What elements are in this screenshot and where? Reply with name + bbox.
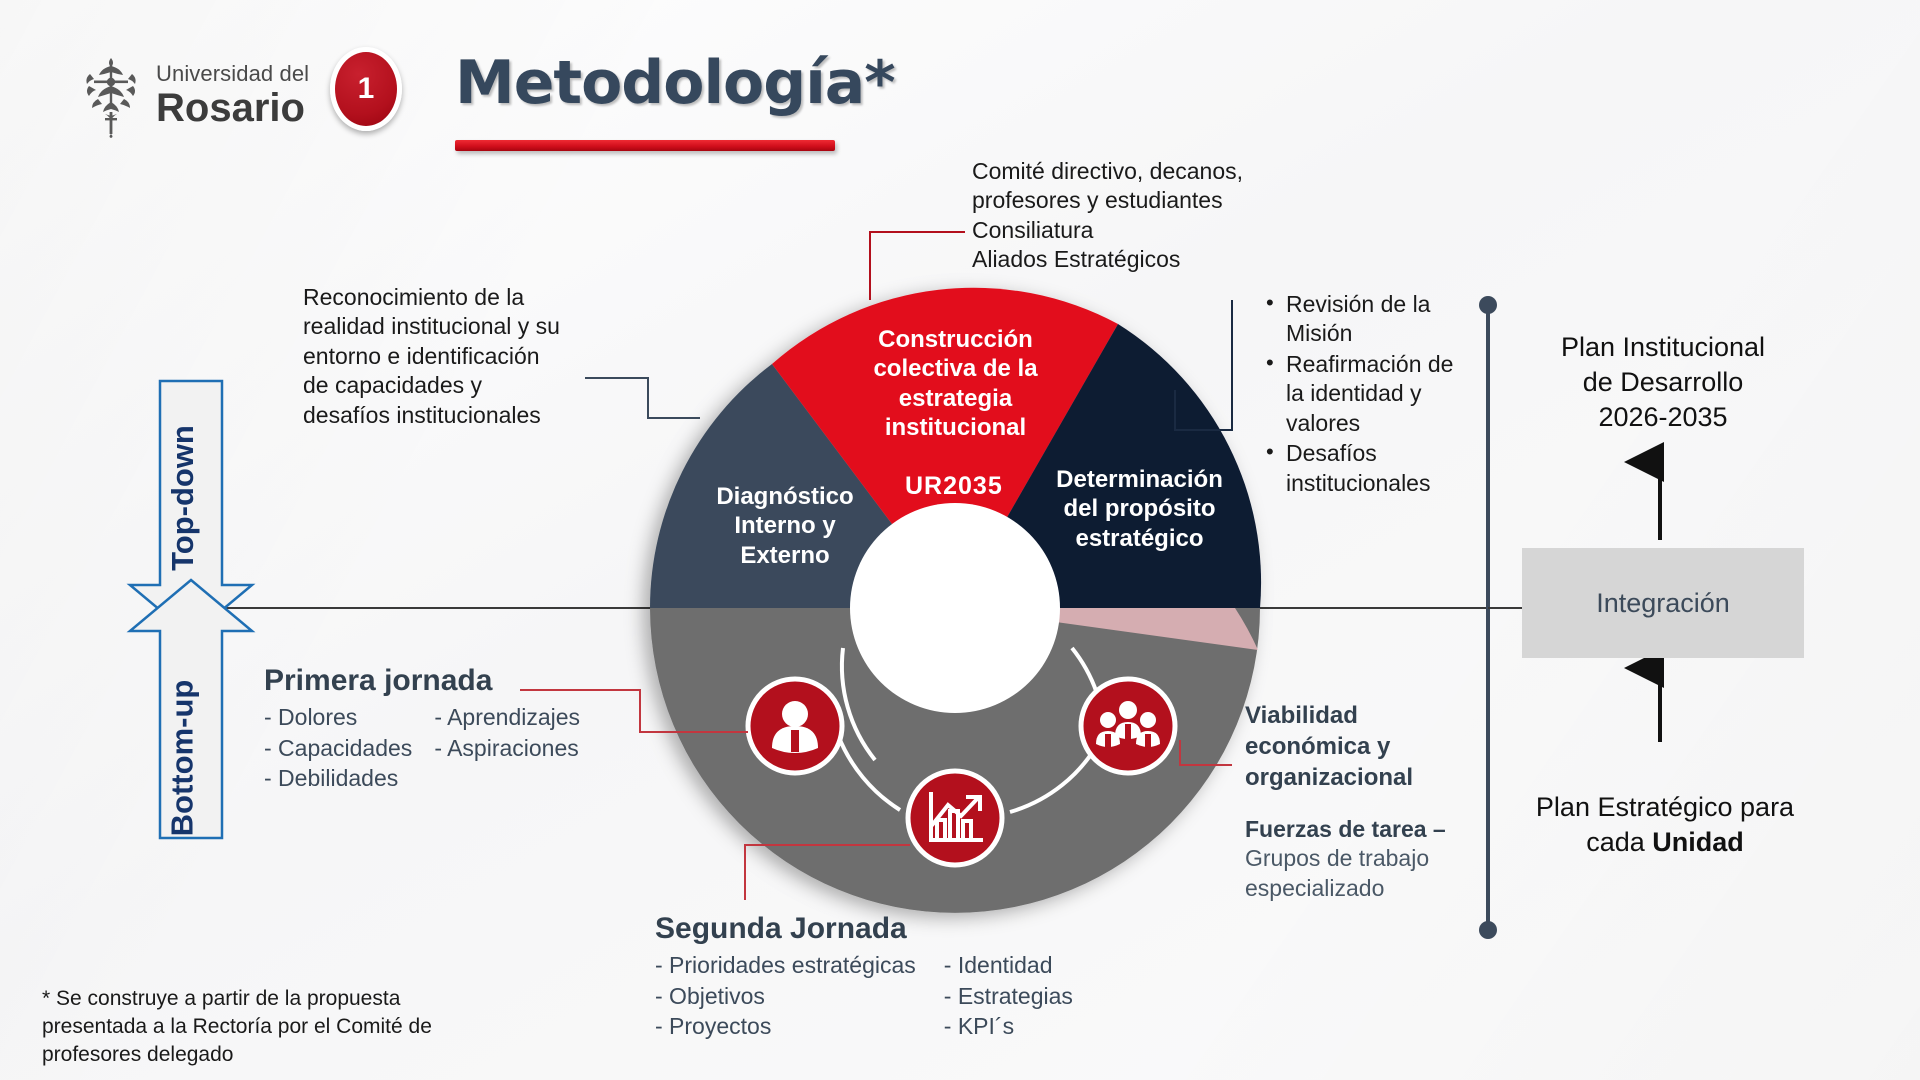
wheel-lower-half — [650, 608, 1260, 913]
footnote-line-2: presentada a la Rectoría por el Comité d… — [42, 1013, 432, 1041]
footnote: * Se construye a partir de la propuesta … — [42, 985, 432, 1069]
callout-left-line-4: de capacidades y — [303, 371, 603, 400]
viabilidad-line-3: organizacional — [1245, 762, 1475, 793]
callout-left-upper: Reconocimiento de la realidad institucio… — [303, 283, 603, 430]
bullet-item: Revisión de la Misión — [1262, 290, 1462, 349]
list-item: - Capacidades — [264, 733, 412, 764]
plan-institucional-label: Plan Institucional de Desarrollo 2026-20… — [1522, 330, 1804, 435]
integracion-box: Integración — [1522, 548, 1804, 658]
callout-left-line-3: entorno e identificación — [303, 342, 603, 371]
fuerzas-tarea-title: Fuerzas de tarea – — [1245, 816, 1475, 843]
footnote-line-3: profesores delegado — [42, 1041, 432, 1069]
plan-estrategico-label: Plan Estratégico para cada Unidad — [1510, 790, 1820, 860]
primera-jornada-col1: - Dolores - Capacidades - Debilidades — [264, 702, 412, 794]
plan-institucional-line-1: Plan Institucional — [1522, 330, 1804, 365]
viabilidad-line-1: Viabilidad — [1245, 700, 1475, 731]
leader-right-bullets — [1175, 300, 1232, 430]
plan-estrategico-line-1: Plan Estratégico para — [1510, 790, 1820, 825]
primera-jornada-col2: - Aprendizajes - Aspiraciones — [434, 702, 580, 794]
list-item: - Debilidades — [264, 763, 412, 794]
label-top-down: Top-down — [165, 425, 201, 571]
fuerzas-tarea-line-1: Grupos de trabajo — [1245, 843, 1475, 874]
wheel-icon-group-people — [1081, 679, 1175, 773]
list-item: - Aspiraciones — [434, 733, 580, 764]
segunda-jornada-title: Segunda Jornada — [655, 912, 1073, 946]
leader-viabilidad — [1180, 740, 1232, 765]
segunda-jornada-block: Segunda Jornada - Prioridades estratégic… — [655, 912, 1073, 1042]
wheel-center-tag: UR2035 — [905, 472, 1003, 501]
callout-top-line-1: Comité directivo, decanos, — [972, 157, 1302, 186]
leader-segunda-jornada — [745, 845, 910, 900]
slide-number-badge: 1 — [330, 47, 402, 131]
integracion-label: Integración — [1596, 588, 1730, 619]
wheel-icon-growth-chart — [908, 771, 1002, 865]
label-bottom-up: Bottom-up — [164, 680, 200, 837]
segunda-jornada-col2: - Identidad - Estrategias - KPI´s — [944, 950, 1073, 1042]
list-item: - Identidad — [944, 950, 1073, 981]
list-item: - Proyectos — [655, 1011, 916, 1042]
footnote-line-1: * Se construye a partir de la propuesta — [42, 985, 432, 1013]
plan-institucional-line-3: 2026-2035 — [1522, 400, 1804, 435]
callout-right-bullets: Revisión de la Misión Reafirmación de la… — [1262, 290, 1462, 499]
callout-top-line-3: Consiliatura — [972, 216, 1302, 245]
university-logo: Universidad del Rosario — [78, 52, 309, 138]
list-item: - Dolores — [264, 702, 412, 733]
list-item: - Objetivos — [655, 981, 916, 1012]
wheel-icon-person — [748, 679, 842, 773]
wheel-label-proposito: Determinacióndel propósitoestratégico — [1032, 465, 1247, 553]
wheel-hole — [850, 503, 1060, 713]
callout-left-line-5: desafíos institucionales — [303, 401, 603, 430]
callout-left-line-1: Reconocimiento de la — [303, 283, 603, 312]
callout-top-center: Comité directivo, decanos, profesores y … — [972, 157, 1302, 275]
title-underline — [455, 140, 835, 151]
fuerzas-tarea-line-2: especializado — [1245, 873, 1475, 904]
callout-top-line-4: Aliados Estratégicos — [972, 245, 1302, 274]
leader-top-center — [870, 232, 965, 300]
viabilidad-block: Viabilidad económica y organizacional Fu… — [1245, 700, 1475, 904]
page-title: Metodología* — [455, 48, 895, 118]
university-crest-icon — [78, 52, 144, 138]
list-item: - KPI´s — [944, 1011, 1073, 1042]
plan-estrategico-unidad: Unidad — [1652, 827, 1744, 857]
callout-left-line-2: realidad institucional y su — [303, 312, 603, 341]
list-item: - Aprendizajes — [434, 702, 580, 733]
primera-jornada-block: Primera jornada - Dolores - Capacidades … — [264, 664, 580, 794]
callout-top-line-2: profesores y estudiantes — [972, 186, 1302, 215]
primera-jornada-title: Primera jornada — [264, 664, 580, 698]
logo-rosario-line: Rosario — [156, 88, 309, 128]
logo-university-line: Universidad del — [156, 63, 309, 85]
bullet-item: Desafíos institucionales — [1262, 439, 1462, 498]
list-item: - Prioridades estratégicas — [655, 950, 916, 981]
wheel-label-diagnostico: DiagnósticoInterno yExterno — [700, 482, 870, 570]
wheel-label-construccion: Construccióncolectiva de laestrategiains… — [848, 325, 1063, 442]
segunda-jornada-col1: - Prioridades estratégicas - Objetivos -… — [655, 950, 916, 1042]
bullet-item: Reafirmación de la identidad y valores — [1262, 350, 1462, 438]
plan-estrategico-line-2-prefix: cada — [1586, 827, 1652, 857]
plan-institucional-line-2: de Desarrollo — [1522, 365, 1804, 400]
viabilidad-line-2: económica y — [1245, 731, 1475, 762]
list-item: - Estrategias — [944, 981, 1073, 1012]
